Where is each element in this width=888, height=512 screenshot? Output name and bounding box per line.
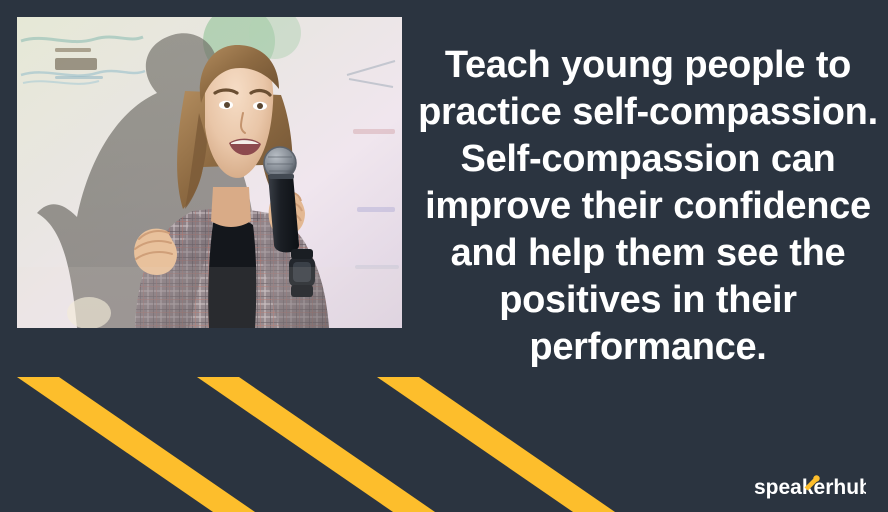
speaker-photo: [17, 17, 402, 328]
speakerhub-logo[interactable]: speakerhub: [754, 474, 866, 500]
chevron-group: [17, 377, 615, 512]
quote-block: Teach young people to practice self-comp…: [418, 42, 878, 371]
logo-accent-dot-icon: [813, 475, 819, 481]
speaker-photo-image: [17, 17, 402, 328]
chevron-shape: [17, 377, 255, 512]
presentation-slide: Teach young people to practice self-comp…: [0, 0, 888, 512]
chevron-shape: [197, 377, 435, 512]
quote-text: Teach young people to practice self-comp…: [418, 42, 878, 371]
speakerhub-logo-mark: speakerhub: [754, 474, 866, 500]
chevron-shape: [377, 377, 615, 512]
